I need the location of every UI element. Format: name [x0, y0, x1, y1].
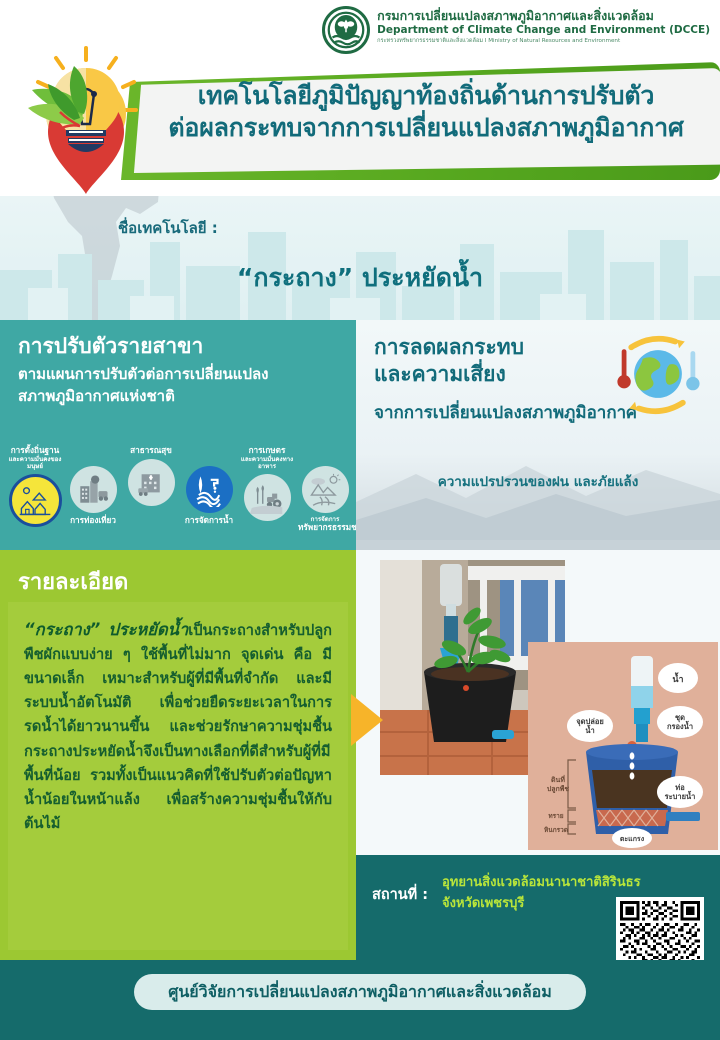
- title-banner: เทคโนโลยีภูมิปัญญาท้องถิ่นด้านการปรับตัว…: [118, 62, 720, 180]
- panel-divider-strip: [356, 540, 720, 550]
- adaptation-subheading-line1: ตามแผนการปรับตัวต่อการเปลี่ยนแปลง: [18, 364, 344, 386]
- details-lead: “กระถาง” ประหยัดน้ำ: [24, 620, 188, 639]
- hills-silhouette: [356, 440, 720, 550]
- technology-name-band: ชื่อเทคโนโลยี : “กระถาง” ประหยัดน้ำ: [0, 196, 720, 320]
- mitigation-heading: การลดผลกระทบ และความเสี่ยง: [374, 334, 524, 388]
- sector-item-water-management[interactable]: การจัดการน้ำ: [182, 466, 236, 526]
- technology-name: “กระถาง” ประหยัดน้ำ: [0, 258, 720, 298]
- place-value-line1: อุทยานสิ่งแวดล้อมนานาชาติสิรินธร: [442, 873, 652, 894]
- title-line-2: ต่อผลกระทบจากการเปลี่ยนแปลงสภาพภูมิอากาศ: [154, 112, 698, 144]
- poster-footer: ศูนย์วิจัยการเปลี่ยนแปลงสภาพภูมิอากาศและ…: [0, 960, 720, 1040]
- mitigation-heading-line2: และความเสี่ยง: [374, 362, 506, 386]
- tourism-city-car-icon: [70, 466, 117, 513]
- footer-text: ศูนย์วิจัยการเปลี่ยนแปลงสภาพภูมิอากาศและ…: [168, 980, 552, 1005]
- org-name-en: Department of Climate Change and Environ…: [377, 24, 710, 37]
- sector-label-settlement: การตั้งถิ่นฐาน และความมั่นคงของมนุษย์: [8, 446, 62, 471]
- diagram-label-filter-2: กรองน้ำ: [667, 720, 693, 731]
- sector-item-settlement[interactable]: การตั้งถิ่นฐาน และความมั่นคงของมนุษย์: [8, 446, 62, 527]
- sector-label-water-management: การจัดการน้ำ: [182, 516, 236, 526]
- mitigation-heading-line1: การลดผลกระทบ: [374, 335, 524, 359]
- globe-thermometer-icon: [610, 332, 706, 418]
- dcce-logo: กรมการเปลี่ยนแปลงสภาพภูมิอากาศและสิ่งแวด…: [322, 6, 710, 54]
- sector-label-public-health: สาธารณสุข: [124, 446, 178, 456]
- diagram-label-soil-2: ปลูกพืช: [547, 785, 570, 794]
- sector-item-public-health[interactable]: สาธารณสุข: [124, 446, 178, 506]
- diagram-label-drain-1: ท่อ: [675, 783, 684, 792]
- sector-item-tourism[interactable]: การท่องเที่ยว: [66, 466, 120, 526]
- details-panel: รายละเอียด “กระถาง” ประหยัดน้ำเป็นกระถาง…: [0, 550, 356, 960]
- diagram-label-drain-2: ระบายน้ำ: [665, 790, 696, 801]
- place-section: สถานที่ : อุทยานสิ่งแวดล้อมนานาชาติสิริน…: [356, 855, 720, 960]
- details-heading: รายละเอียด: [18, 564, 128, 599]
- org-name-th: กรมการเปลี่ยนแปลงสภาพภูมิอากาศและสิ่งแวด…: [377, 9, 710, 23]
- adaptation-heading: การปรับตัวรายสาขา: [18, 334, 346, 359]
- sector-label-tourism: การท่องเที่ยว: [66, 516, 120, 526]
- agriculture-wheat-tractor-icon: [244, 474, 291, 521]
- place-label: สถานที่ :: [372, 883, 428, 906]
- qr-code-icon: [620, 901, 700, 960]
- details-body: “กระถาง” ประหยัดน้ำเป็นกระถางสำหรับปลูกพ…: [8, 602, 348, 950]
- media-column: น้ำ ชุด กรองน้ำ จุดปล่อย น้ำ ท่อ ระบายน้…: [356, 550, 720, 960]
- poster-header: กรมการเปลี่ยนแปลงสภาพภูมิอากาศและสิ่งแวด…: [0, 0, 720, 200]
- sector-item-natural-resources[interactable]: การจัดการ ทรัพยากรธรรมชาติ: [298, 466, 352, 533]
- qr-code[interactable]: [616, 897, 704, 960]
- lightbulb-leaf-map-pin-icon: [16, 46, 156, 200]
- sector-item-agriculture[interactable]: การเกษตร และความมั่นคงทางอาหาร: [240, 446, 294, 521]
- arrow-right-icon: [349, 692, 385, 748]
- title-line-1: เทคโนโลยีภูมิปัญญาท้องถิ่นด้านการปรับตัว: [198, 81, 654, 110]
- technology-label: ชื่อเทคโนโลยี :: [118, 216, 218, 240]
- sector-icon-row: การตั้งถิ่นฐาน และความมั่นคงของมนุษย์: [6, 446, 354, 546]
- diagram-label-soil-1: ดินที่: [551, 774, 566, 784]
- mitigation-note: ความแปรปรวนของฝน และภัยแล้ง: [356, 470, 720, 492]
- adaptation-panel: การปรับตัวรายสาขา ตามแผนการปรับตัวต่อการ…: [0, 320, 356, 550]
- water-management-tap-river-icon: [186, 466, 233, 513]
- diagram-label-release-1: จุดปล่อย: [576, 717, 604, 726]
- public-health-hospital-icon: [128, 459, 175, 506]
- adaptation-subheading: ตามแผนการปรับตัวต่อการเปลี่ยนแปลง สภาพภู…: [18, 364, 344, 408]
- ministry-name: กระทรวงทรัพยากรธรรมชาติและสิ่งแวดล้อม I …: [377, 38, 710, 45]
- sector-label-agriculture: การเกษตร และความมั่นคงทางอาหาร: [240, 446, 294, 471]
- diagram-label-filter-1: ชุด: [675, 713, 685, 722]
- adaptation-subheading-line2: สภาพภูมิอากาศแห่งชาติ: [18, 386, 344, 408]
- details-text: เป็นกระถางสำหรับปลูกพืชผักแบบง่าย ๆ ใช้พ…: [24, 622, 332, 832]
- pot-structure-diagram-image: น้ำ ชุด กรองน้ำ จุดปล่อย น้ำ ท่อ ระบายน้…: [528, 642, 718, 850]
- mitigation-panel: การลดผลกระทบ และความเสี่ยง จากการเปลี่ยน…: [356, 320, 720, 550]
- diagram-label-pebble: หินกรวด: [544, 826, 568, 834]
- dcce-tree-water-emblem-icon: [322, 6, 370, 54]
- diagram-label-grate: ตะแกรง: [620, 835, 645, 843]
- footer-pill: ศูนย์วิจัยการเปลี่ยนแปลงสภาพภูมิอากาศและ…: [134, 974, 586, 1010]
- diagram-label-sand: ทราย: [548, 812, 563, 820]
- sector-label-natural-resources: การจัดการ ทรัพยากรธรรมชาติ: [298, 516, 352, 533]
- page-title: เทคโนโลยีภูมิปัญญาท้องถิ่นด้านการปรับตัว…: [154, 80, 698, 144]
- diagram-label-release-2: น้ำ: [585, 724, 594, 735]
- natural-resources-mountain-icon: [302, 466, 349, 513]
- settlement-houses-icon: [9, 474, 62, 527]
- poster-root: กรมการเปลี่ยนแปลงสภาพภูมิอากาศและสิ่งแวด…: [0, 0, 720, 1040]
- logo-text-block: กรมการเปลี่ยนแปลงสภาพภูมิอากาศและสิ่งแวด…: [377, 6, 710, 45]
- pot-structure-diagram: น้ำ ชุด กรองน้ำ จุดปล่อย น้ำ ท่อ ระบายน้…: [528, 642, 718, 850]
